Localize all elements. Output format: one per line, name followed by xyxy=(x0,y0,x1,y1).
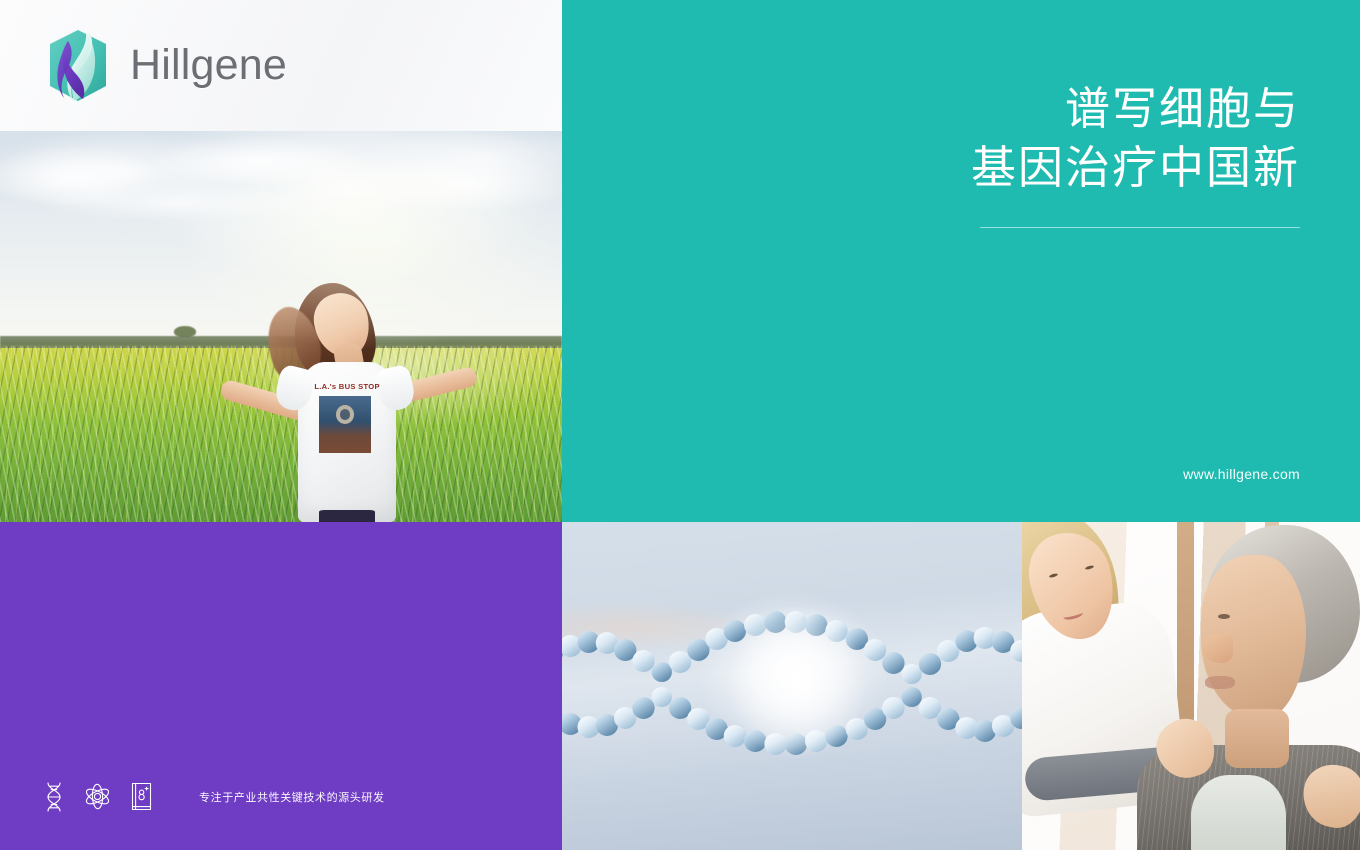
woman-in-wheat-field-photo: L.A.'s BUS STOP xyxy=(0,131,562,522)
science-book-icon xyxy=(128,781,155,812)
elderly-woman-eye xyxy=(1218,614,1230,619)
hero-divider xyxy=(980,227,1300,228)
footer-row: 专注于产业共性关键技术的源头研发 xyxy=(40,781,385,812)
cloud xyxy=(337,153,562,210)
elderly-woman-lips xyxy=(1205,676,1235,689)
brand-and-field-panel: Hillgene xyxy=(0,0,562,522)
atom-icon xyxy=(84,781,111,812)
shorts xyxy=(319,510,375,522)
hillgene-hexagon-dna-logo xyxy=(46,28,110,104)
tshirt-graphic-ring xyxy=(336,405,355,424)
hero-panel: 谱写细胞与 基因治疗中国新 www.hillgene.com xyxy=(562,0,1360,522)
elderly-woman-nose xyxy=(1203,634,1233,664)
center-glow xyxy=(728,607,866,758)
elderly-woman-neck xyxy=(1225,709,1289,768)
elderly-woman-inner-top xyxy=(1191,775,1286,850)
poster-canvas: Hillgene xyxy=(0,0,1360,850)
purple-tagline-panel: 专注于产业共性关键技术的源头研发 xyxy=(0,522,562,850)
tshirt-print-text: L.A.'s BUS STOP xyxy=(309,383,385,392)
hero-title-line-1: 谱写细胞与 xyxy=(960,80,1300,139)
brand-header: Hillgene xyxy=(0,0,562,131)
brand-wordmark: Hillgene xyxy=(130,44,287,87)
tshirt-graphic xyxy=(319,396,371,453)
hero-text-block: 谱写细胞与 基因治疗中国新 xyxy=(960,80,1300,228)
cloud xyxy=(34,184,315,219)
distant-tree xyxy=(174,326,196,337)
dna-double-helix-photo xyxy=(562,522,1022,850)
door-frame xyxy=(1177,522,1194,725)
nurse-with-elderly-woman-photo xyxy=(1022,522,1360,850)
icon-group xyxy=(40,781,155,812)
dna-helix-icon xyxy=(40,781,67,812)
website-url[interactable]: www.hillgene.com xyxy=(1183,466,1300,482)
cloud xyxy=(146,135,371,183)
hero-title-line-2: 基因治疗中国新 xyxy=(960,139,1300,198)
woman-figure: L.A.'s BUS STOP xyxy=(225,283,562,522)
tagline-text: 专注于产业共性关键技术的源头研发 xyxy=(199,789,385,805)
